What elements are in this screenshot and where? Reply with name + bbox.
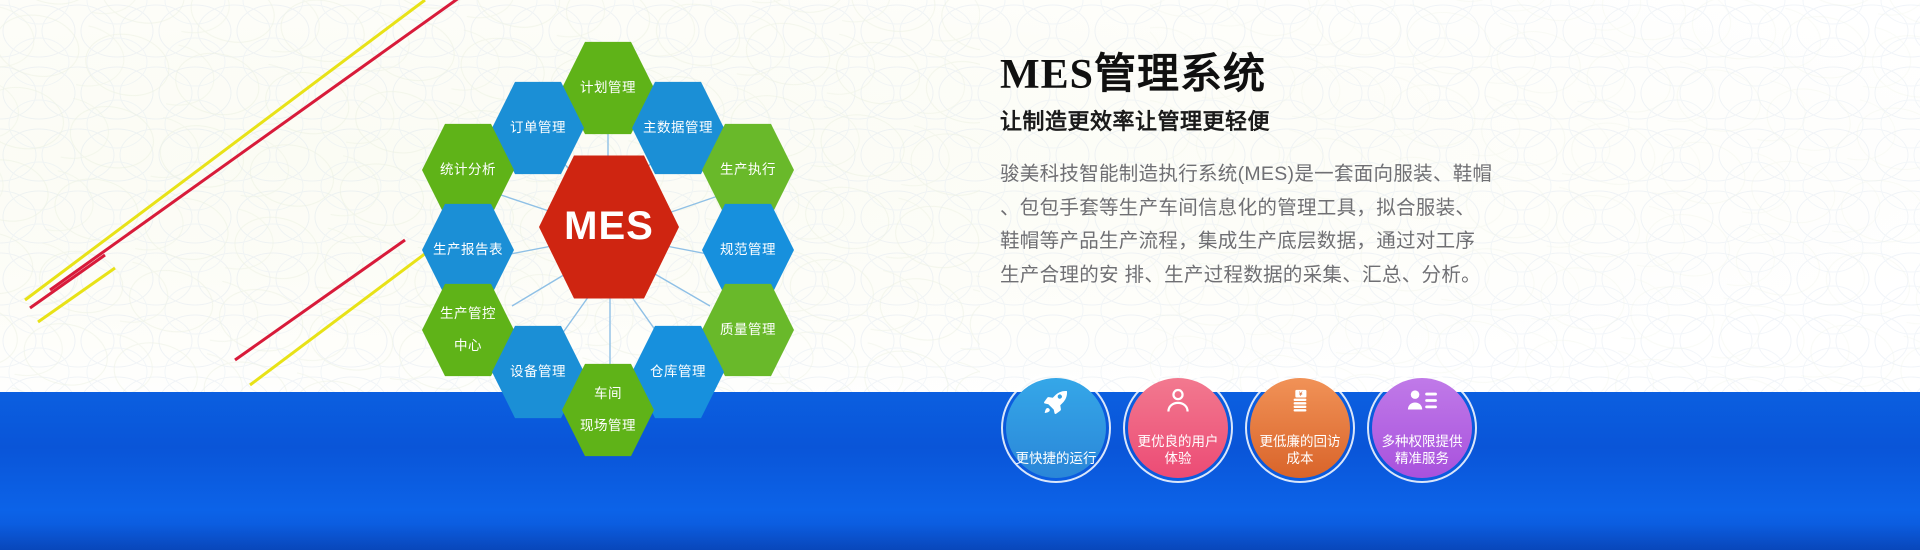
hex-label-line2: 现场管理 — [564, 418, 652, 434]
banner-stage: 计划管理 订单管理 主数据管理 统计分析 生产执行 生产报告表 规范管理 生产管… — [0, 0, 1920, 550]
badge-label-line2: 精准服务 — [1395, 451, 1449, 466]
hex-label-line2: 中心 — [424, 338, 512, 354]
page-title: MES管理系统 — [1000, 52, 1600, 98]
hex-label-line1: 生产管控 — [424, 306, 512, 322]
hex-label-line1: 车间 — [564, 386, 652, 402]
paragraph-line: 骏美科技智能制造执行系统(MES)是一套面向服装、鞋帽 — [1000, 158, 1600, 192]
badge-label-line2: 成本 — [1287, 451, 1314, 466]
hex-label: 仓库管理 — [634, 364, 722, 380]
page-subtitle: 让制造更效率让管理更轻便 — [1000, 104, 1600, 136]
rocket-icon — [1006, 387, 1106, 417]
badge-better-experience[interactable]: 更优良的用户 体验 — [1128, 378, 1228, 478]
badge-lower-cost[interactable]: ¥ 更低廉的回访 成本 — [1250, 378, 1350, 478]
hex-label: 生产管控 中心 — [424, 306, 512, 354]
badge-label-line1: 更低廉的回访 — [1260, 434, 1341, 449]
hex-label: 车间 现场管理 — [564, 386, 652, 434]
badge-label-line2: 体验 — [1165, 451, 1192, 466]
paragraph-line: 鞋帽等产品生产流程，集成生产底层数据，通过对工序 — [1000, 225, 1600, 259]
feature-badge-row: 更快捷的运行 更优良的用户 体验 — [1006, 378, 1472, 478]
badge-label-line1: 多种权限提供 — [1382, 434, 1463, 449]
user-icon — [1128, 387, 1228, 415]
badge-label-line1: 更优良的用户 — [1138, 434, 1219, 449]
hero-text-block: MES管理系统 让制造更效率让管理更轻便 骏美科技智能制造执行系统(MES)是一… — [1000, 52, 1600, 292]
badge-label: 更优良的用户 体验 — [1138, 434, 1219, 468]
paragraph-line: 、包包手套等生产车间信息化的管理工具，拟合服装、 — [1000, 192, 1600, 226]
badge-label: 更快捷的运行 — [1016, 451, 1097, 468]
badge-permissions-service[interactable]: 多种权限提供 精准服务 — [1372, 378, 1472, 478]
background-blue-band — [0, 392, 1920, 550]
badge-label-line1: 更快捷的运行 — [1016, 451, 1097, 466]
money-icon: ¥ — [1250, 387, 1350, 415]
badge-faster-operation[interactable]: 更快捷的运行 — [1006, 378, 1106, 478]
hex-label: 生产报告表 — [424, 242, 512, 258]
hex-label: 统计分析 — [424, 162, 512, 178]
hex-center-label: MES — [541, 203, 677, 250]
hex-label: 质量管理 — [704, 322, 792, 338]
hero-paragraph: 骏美科技智能制造执行系统(MES)是一套面向服装、鞋帽 、包包手套等生产车间信息… — [1000, 158, 1600, 292]
badge-label: 多种权限提供 精准服务 — [1382, 434, 1463, 468]
svg-text:¥: ¥ — [1299, 391, 1303, 398]
hex-label: 设备管理 — [494, 364, 582, 380]
paragraph-line: 生产合理的安 排、生产过程数据的采集、汇总、分析。 — [1000, 259, 1600, 293]
hex-label: 订单管理 — [494, 120, 582, 136]
badge-label: 更低廉的回访 成本 — [1260, 434, 1341, 468]
hex-label: 生产执行 — [704, 162, 792, 178]
mes-hex-diagram: 计划管理 订单管理 主数据管理 统计分析 生产执行 生产报告表 规范管理 生产管… — [400, 18, 820, 438]
hex-label: 规范管理 — [704, 242, 792, 258]
hex-label: 计划管理 — [564, 80, 652, 96]
user-list-icon — [1372, 387, 1472, 415]
hex-label: 主数据管理 — [634, 120, 722, 136]
